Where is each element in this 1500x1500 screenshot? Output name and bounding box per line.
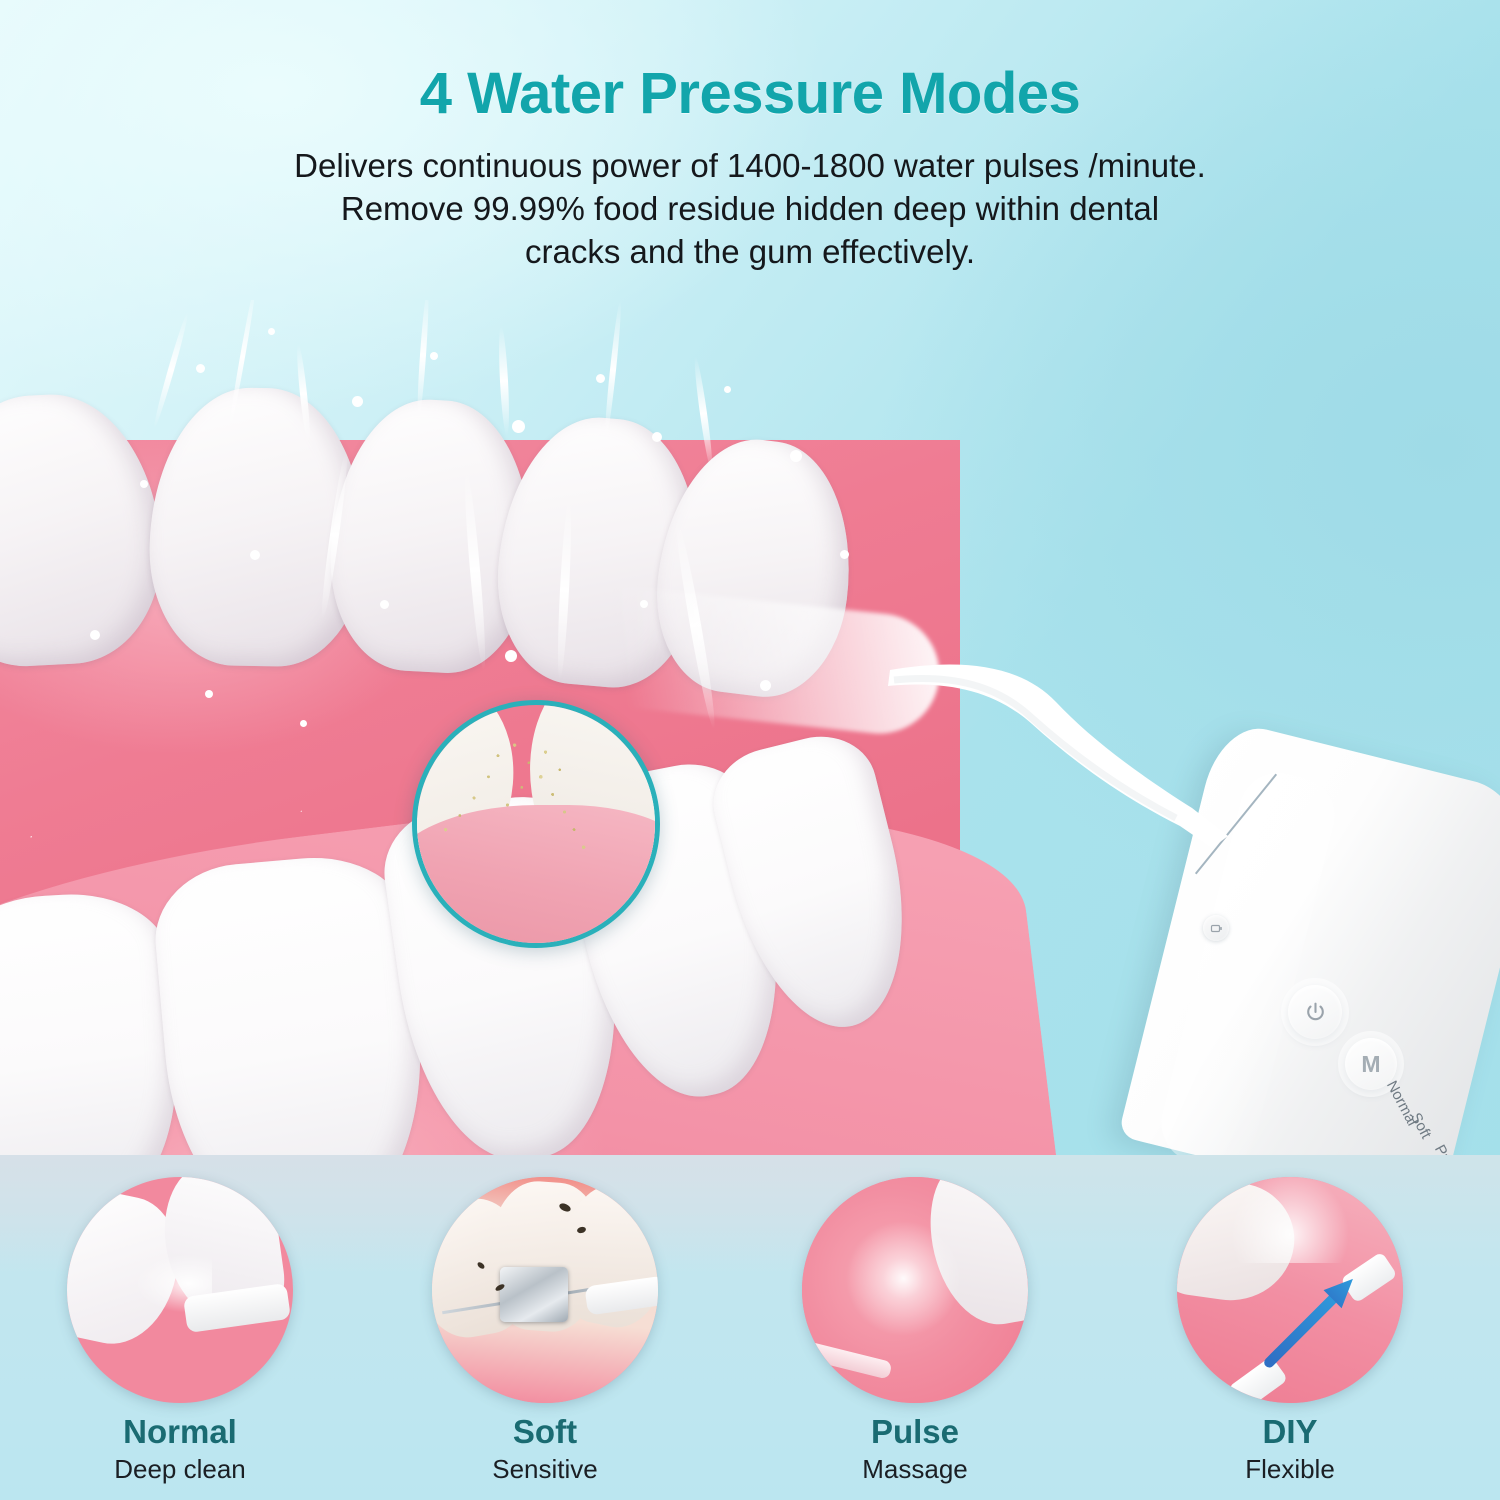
nozzle-tip-icon — [880, 640, 1240, 860]
subtitle-line-2: Remove 99.99% food residue hidden deep w… — [150, 188, 1350, 231]
thumb-braces-bracket — [500, 1267, 568, 1321]
subtitle-line-1: Delivers continuous power of 1400-1800 w… — [150, 145, 1350, 188]
mode-subtitle: Flexible — [1140, 1454, 1440, 1485]
page-subtitle: Delivers continuous power of 1400-1800 w… — [150, 145, 1350, 274]
product-feature-image: 4 Water Pressure Modes Delivers continuo… — [0, 0, 1500, 1500]
mode-subtitle: Sensitive — [395, 1454, 695, 1485]
page-title: 4 Water Pressure Modes — [0, 60, 1500, 127]
mode-title: Soft — [395, 1415, 695, 1450]
battery-indicator-icon — [1203, 915, 1229, 941]
thumb-diy — [1177, 1177, 1403, 1403]
mode-item-soft[interactable]: Soft Sensitive — [395, 1177, 695, 1485]
thumb-pulse-burst — [838, 1213, 969, 1344]
power-button[interactable] — [1288, 985, 1342, 1039]
header: 4 Water Pressure Modes Delivers continuo… — [0, 0, 1500, 300]
adjust-arrow-icon — [1258, 1263, 1371, 1376]
mode-panel: Normal Deep clean Soft — [0, 1155, 1500, 1500]
mode-item-pulse[interactable]: Pulse Massage — [765, 1177, 1065, 1485]
thumb-soft — [432, 1177, 658, 1403]
mode-list: Normal Deep clean Soft — [0, 1155, 1500, 1500]
thumb-pulse — [802, 1177, 1028, 1403]
mode-title: Pulse — [765, 1415, 1065, 1450]
thumb-water-spray — [1227, 1177, 1354, 1263]
mode-subtitle: Deep clean — [30, 1454, 330, 1485]
thumb-normal — [67, 1177, 293, 1403]
mode-subtitle: Massage — [765, 1454, 1065, 1485]
mode-item-normal[interactable]: Normal Deep clean — [30, 1177, 330, 1485]
power-icon — [1303, 1000, 1328, 1025]
subtitle-line-3: cracks and the gum effectively. — [150, 231, 1350, 274]
mode-title: DIY — [1140, 1415, 1440, 1450]
device-mode-label-soft: Soft — [1407, 1110, 1435, 1142]
mode-item-diy[interactable]: DIY Flexible — [1140, 1177, 1440, 1485]
mode-title: Normal — [30, 1415, 330, 1450]
